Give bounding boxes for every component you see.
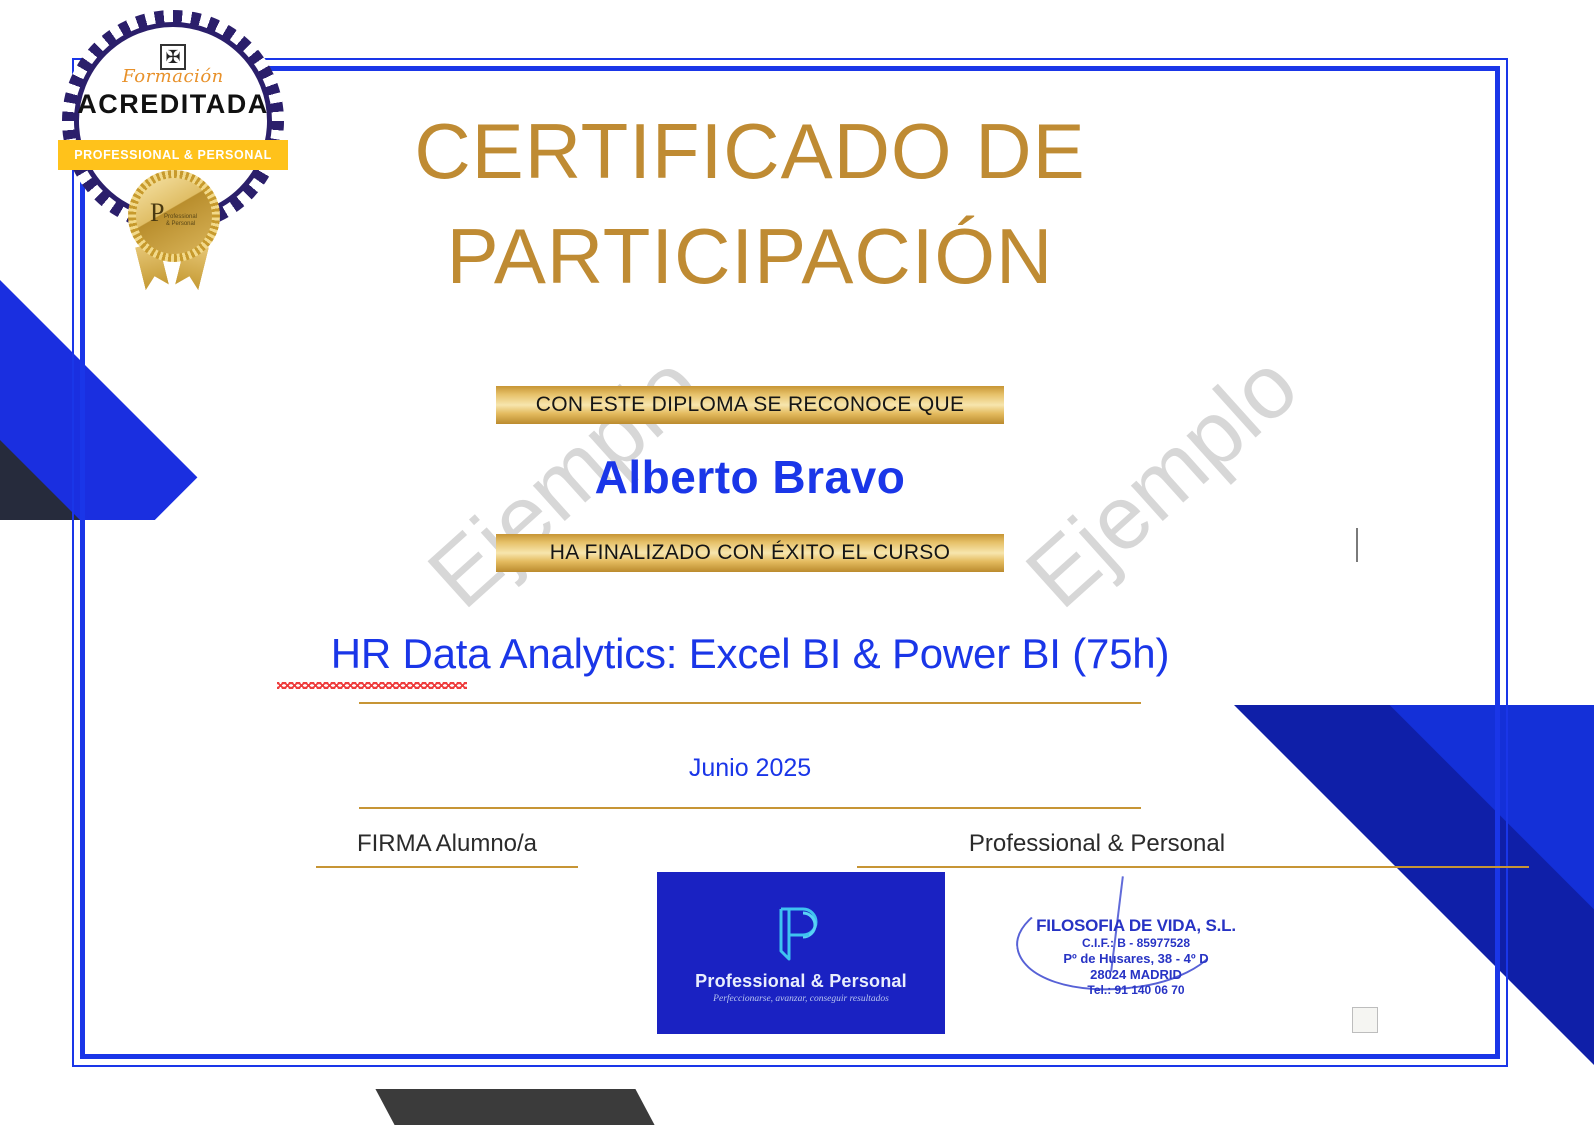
recipient-name[interactable]: Alberto Bravo [95, 450, 1405, 504]
signature-row: FIRMA Alumno/a Professional & Personal [95, 830, 1405, 868]
certificate-content: CERTIFICADO DE PARTICIPACIÓN CON ESTE DI… [95, 75, 1405, 809]
course-date[interactable]: Junio 2025 [95, 754, 1405, 783]
signature-label-student: FIRMA Alumno/a [207, 830, 687, 858]
stamp-address: Pº de Husares, 38 - 4º D [1008, 951, 1264, 966]
title-line-1: CERTIFICADO DE [414, 107, 1085, 195]
pp-monogram-icon [769, 903, 833, 965]
course-underline-rule [359, 702, 1141, 704]
company-stamp: FILOSOFIA DE VIDA, S.L. C.I.F.: B - 8597… [1008, 880, 1264, 998]
completion-banner: HA FINALIZADO CON ÉXITO EL CURSO [496, 534, 1004, 572]
company-logo-card[interactable]: Professional & Personal Perfeccionarse, … [657, 872, 945, 1034]
signature-rule-company [857, 866, 1529, 868]
course-block: HR Data Analytics: Excel BI & Power BI (… [95, 630, 1405, 704]
signature-label-company: Professional & Personal [857, 830, 1337, 858]
title-line-2: PARTICIPACIÓN [95, 204, 1405, 309]
stamp-cif: C.I.F.: B - 85977528 [1008, 936, 1264, 950]
diagonal-band-grey [1557, 743, 1594, 1125]
logo-tagline: Perfeccionarse, avanzar, conseguir resul… [713, 994, 889, 1004]
stamp-company-name: FILOSOFIA DE VIDA, S.L. [1008, 916, 1264, 936]
stamp-city: 28024 MADRID [1008, 967, 1264, 982]
completion-banner-label: HA FINALIZADO CON ÉXITO EL CURSO [550, 541, 951, 565]
signature-rule-student [316, 866, 578, 868]
recognition-banner: CON ESTE DIPLOMA SE RECONOCE QUE [496, 386, 1004, 424]
page-title: CERTIFICADO DE PARTICIPACIÓN [95, 99, 1405, 310]
resize-handle[interactable] [1352, 1007, 1378, 1033]
signature-block-company: Professional & Personal [857, 830, 1337, 868]
bottom-decorative-bar [375, 1089, 654, 1125]
stamp-phone: Tel.: 91 140 06 70 [1008, 983, 1264, 997]
spellcheck-underline-icon [277, 682, 467, 689]
course-title[interactable]: HR Data Analytics: Excel BI & Power BI (… [331, 630, 1170, 678]
logo-company-name: Professional & Personal [695, 971, 907, 992]
date-underline-rule [359, 807, 1141, 809]
certificate-canvas: ✠ Formación ACREDITADA PROFESSIONAL & PE… [0, 0, 1594, 1125]
signature-block-student: FIRMA Alumno/a [207, 830, 687, 868]
text-caret [1356, 528, 1358, 562]
recognition-banner-label: CON ESTE DIPLOMA SE RECONOCE QUE [536, 393, 965, 417]
